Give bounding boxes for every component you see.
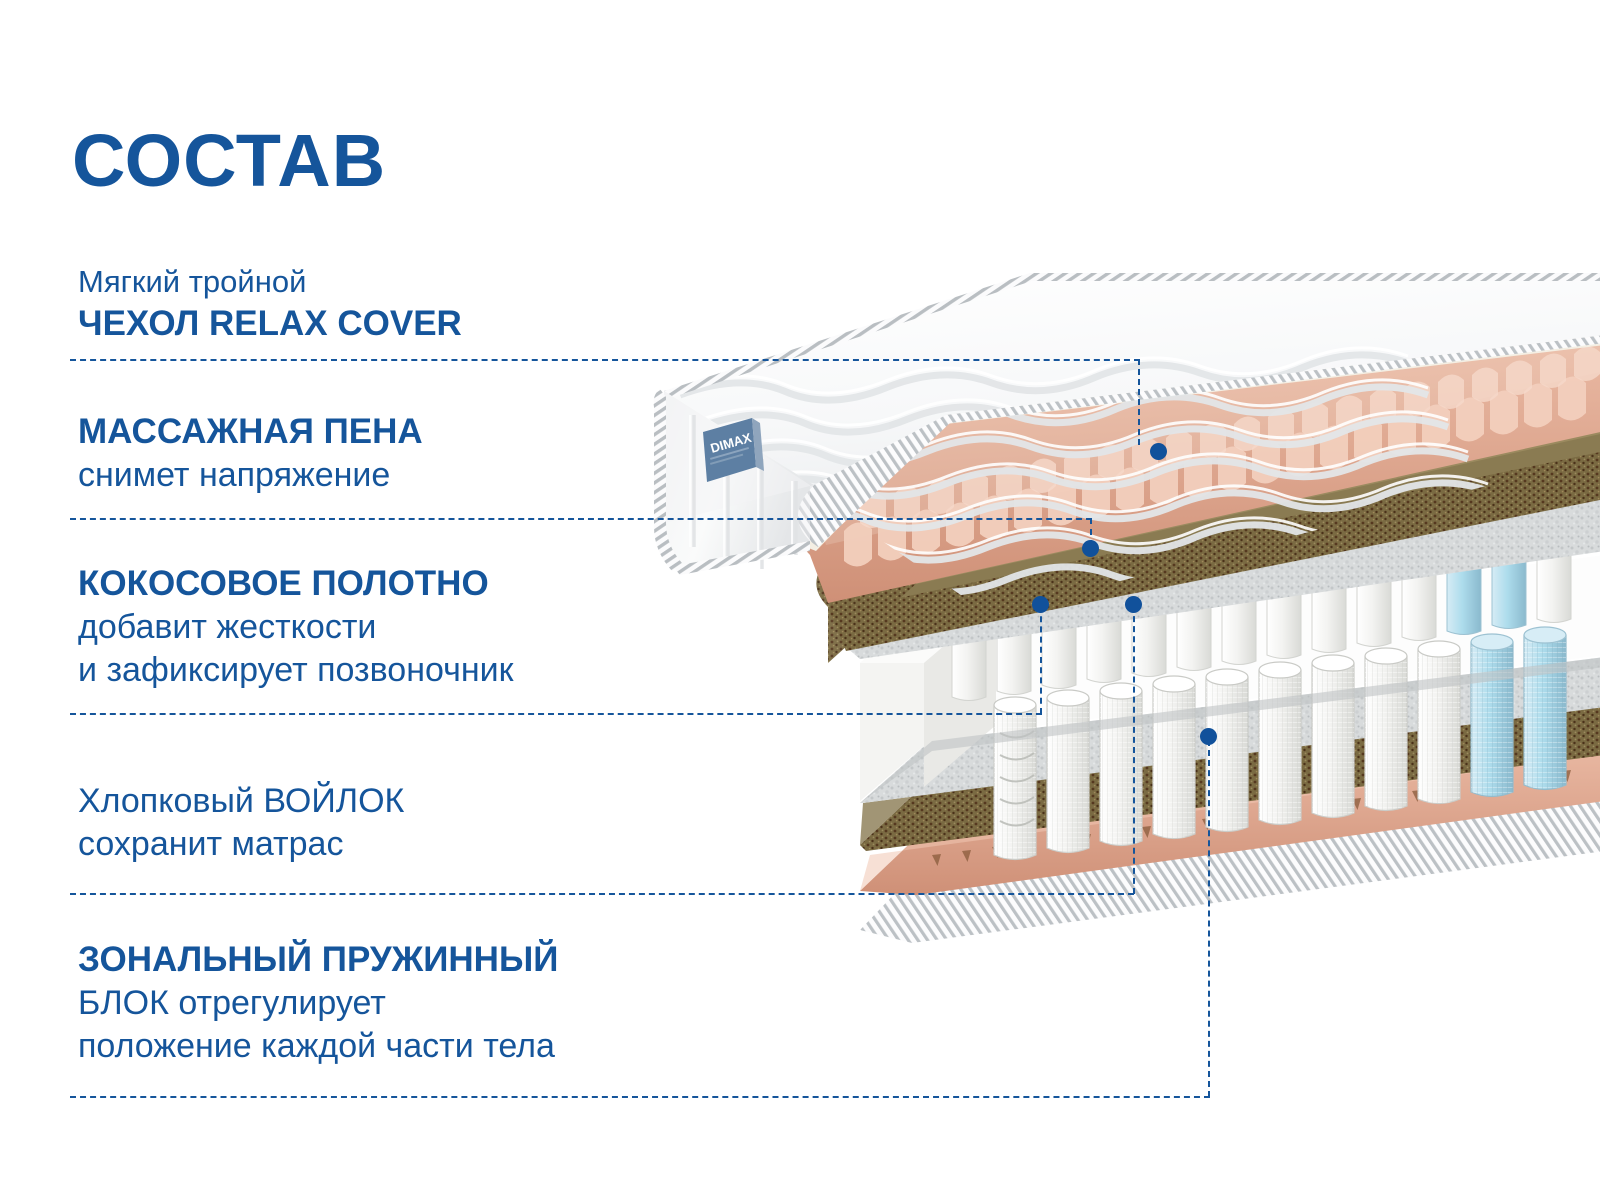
callout-cotton-felt-title: Хлопковый ВОЙЛОК bbox=[78, 780, 404, 823]
leader-line-spring-block-horizontal bbox=[70, 1096, 1210, 1098]
leader-line-coconut-coir-vertical bbox=[1040, 606, 1042, 714]
callout-cotton-felt-prefix: Хлопковый bbox=[78, 782, 263, 820]
infographic-canvas: СОСТАВ bbox=[0, 0, 1600, 1200]
callout-coconut-coir-desc-2: и зафиксирует позвоночник bbox=[78, 649, 514, 692]
callout-dot-cover bbox=[1150, 443, 1167, 460]
callout-coconut-coir-desc-1: добавит жесткости bbox=[78, 606, 514, 649]
callout-massage-foam-title: МАССАЖНАЯ ПЕНА bbox=[78, 410, 423, 454]
callout-massage-foam-desc: снимет напряжение bbox=[78, 454, 423, 497]
callout-cotton-felt: Хлопковый ВОЙЛОК сохранит матрас bbox=[78, 780, 404, 866]
callout-zonal-spring-block-verb: отрегулирует bbox=[169, 984, 386, 1022]
leader-line-cotton-felt-vertical bbox=[1133, 606, 1135, 894]
callout-coconut-coir: КОКОСОВОЕ ПОЛОТНО добавит жесткости и за… bbox=[78, 562, 514, 692]
callout-zonal-spring-block-desc: положение каждой части тела bbox=[78, 1025, 558, 1068]
leader-line-coconut-coir-horizontal bbox=[70, 713, 1042, 715]
callout-cotton-felt-keyword: ВОЙЛОК bbox=[263, 782, 404, 820]
leader-line-spring-block-vertical bbox=[1208, 740, 1210, 1097]
callout-massage-foam: МАССАЖНАЯ ПЕНА снимет напряжение bbox=[78, 410, 423, 497]
callout-zonal-spring-block: ЗОНАЛЬНЫЙ ПРУЖИННЫЙ БЛОК отрегулирует по… bbox=[78, 938, 558, 1068]
leader-line-cover-vertical bbox=[1138, 359, 1140, 445]
callout-cover-line-2: ЧЕХОЛ RELAX COVER bbox=[78, 302, 462, 346]
callout-cover-line-1: Мягкий тройной bbox=[78, 262, 462, 302]
callout-zonal-spring-block-line-2: БЛОК отрегулирует bbox=[78, 982, 558, 1025]
callout-zonal-spring-block-keyword: БЛОК bbox=[78, 984, 169, 1022]
callout-dot-spring-block bbox=[1200, 728, 1217, 745]
callout-cover: Мягкий тройной ЧЕХОЛ RELAX COVER bbox=[78, 262, 462, 346]
page-title: СОСТАВ bbox=[72, 124, 386, 198]
leader-line-cotton-felt-horizontal bbox=[70, 893, 1134, 895]
leader-line-cover-horizontal bbox=[70, 359, 1140, 361]
callout-cotton-felt-desc: сохранит матрас bbox=[78, 823, 404, 866]
callout-dot-coconut-coir bbox=[1032, 596, 1049, 613]
callout-dot-massage-foam bbox=[1082, 540, 1099, 557]
leader-line-massage-foam-horizontal bbox=[70, 518, 1092, 520]
callout-zonal-spring-block-title: ЗОНАЛЬНЫЙ ПРУЖИННЫЙ bbox=[78, 938, 558, 982]
callout-dot-cotton-felt bbox=[1125, 596, 1142, 613]
callout-coconut-coir-title: КОКОСОВОЕ ПОЛОТНО bbox=[78, 562, 514, 606]
